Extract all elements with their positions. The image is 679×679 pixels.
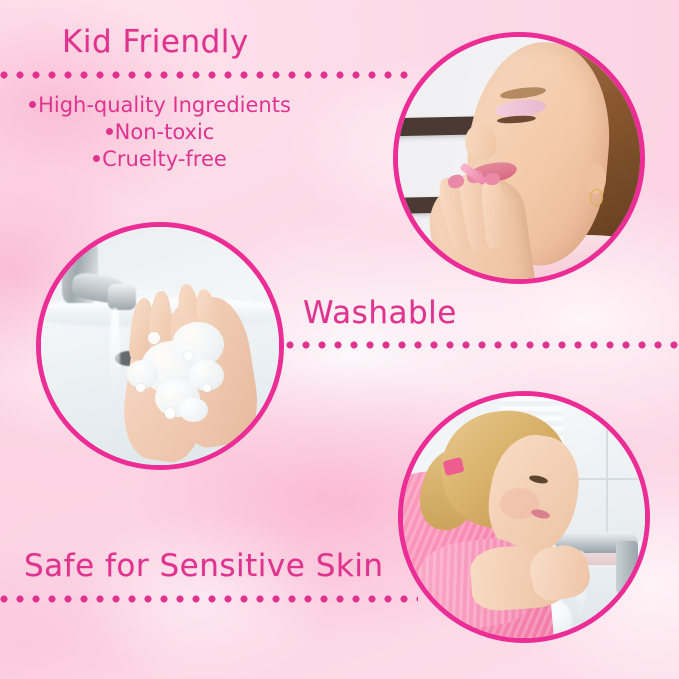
scene-toddler-at-sink: [403, 396, 645, 638]
faucet-stem: [616, 541, 638, 594]
product-feature-banner: Kid Friendly High-quality Ingredients No…: [0, 0, 679, 679]
bullet-label: High-quality Ingredients: [38, 93, 291, 117]
bottom-dotted-divider: [0, 595, 418, 603]
photo-toddler-washing-hands: [398, 391, 650, 643]
painted-nail: [485, 172, 501, 186]
scene-lip-gloss: [398, 37, 640, 279]
tile-grout-line: [606, 415, 608, 541]
feature-bullet-list: High-quality Ingredients Non-toxic Cruel…: [0, 92, 320, 173]
water-stream: [110, 308, 120, 394]
list-item: Cruelty-free: [0, 146, 320, 173]
photo-soapy-hands-under-tap: [36, 222, 284, 470]
faucet-head: [108, 284, 137, 310]
heading-safe-for-sensitive-skin: Safe for Sensitive Skin: [24, 548, 384, 584]
photo-girl-applying-lip-gloss: [393, 32, 645, 284]
list-item: Non-toxic: [0, 119, 320, 146]
bullet-dot-icon: [106, 128, 113, 135]
soap-foam: [179, 398, 208, 422]
soap-bubble: [148, 332, 160, 344]
list-item: High-quality Ingredients: [0, 92, 320, 119]
top-dotted-divider: [0, 71, 412, 79]
bullet-dot-icon: [29, 101, 36, 108]
soap-bubble: [136, 384, 144, 392]
bullet-label: Cruelty-free: [102, 147, 227, 171]
middle-dotted-divider: [286, 341, 679, 349]
heading-washable: Washable: [303, 295, 457, 331]
bullet-label: Non-toxic: [115, 120, 215, 144]
heading-kid-friendly: Kid Friendly: [62, 24, 249, 60]
bullet-dot-icon: [93, 155, 100, 162]
scene-handwashing: [41, 227, 279, 465]
soap-bubble: [165, 408, 176, 419]
